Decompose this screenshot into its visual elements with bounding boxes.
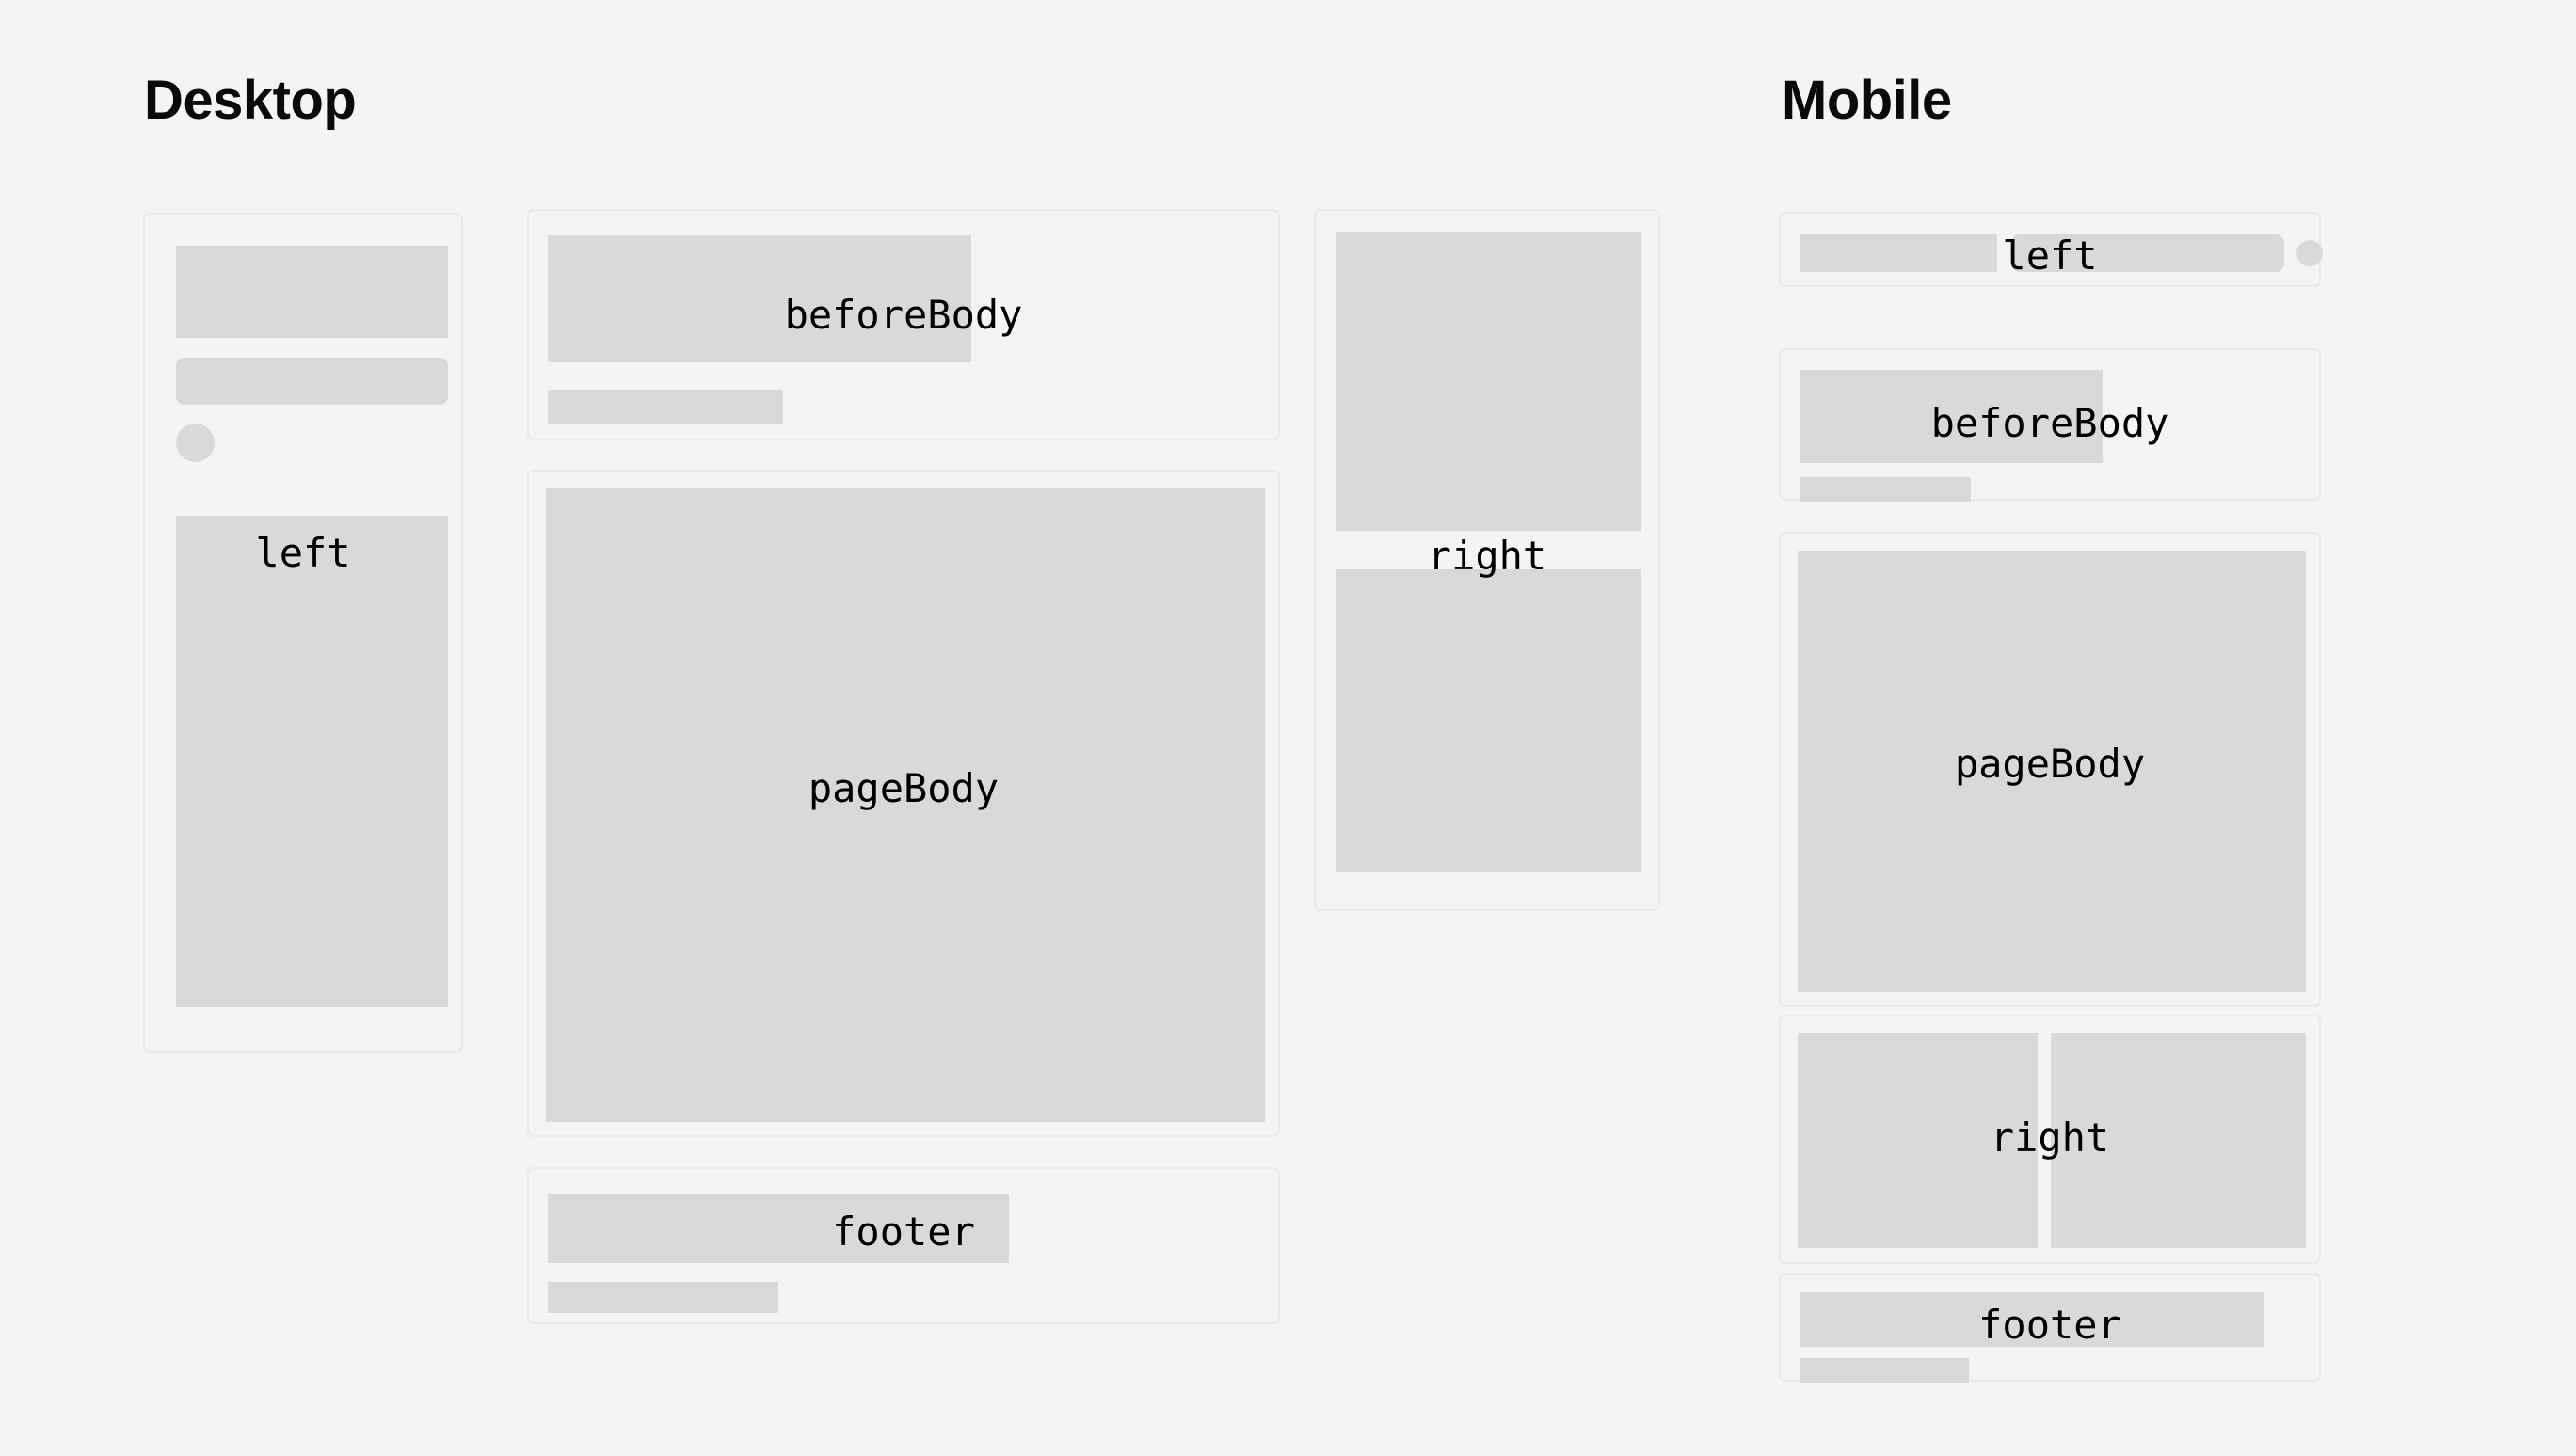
placeholder-block	[1800, 1292, 2264, 1347]
placeholder-block	[1336, 569, 1641, 872]
placeholder-block-small	[1800, 1358, 1969, 1383]
placeholder-block	[2051, 1033, 2306, 1248]
avatar-placeholder-circle	[2296, 240, 2323, 266]
placeholder-block	[1800, 370, 2103, 463]
desktop-right-slot-panel[interactable]	[1314, 209, 1660, 911]
placeholder-block-tall	[176, 516, 448, 1007]
wireframe-preview-stage: Desktop left beforeBody pageBody right f…	[0, 0, 2576, 1456]
desktop-left-slot-panel[interactable]	[143, 213, 463, 1053]
mobile-footer-slot-panel[interactable]	[1779, 1273, 2321, 1382]
placeholder-block-rounded	[176, 358, 448, 405]
placeholder-block	[548, 1194, 1009, 1263]
desktop-section-heading: Desktop	[144, 73, 356, 128]
placeholder-block	[1800, 234, 1997, 272]
desktop-footer-slot-panel[interactable]	[527, 1167, 1280, 1324]
placeholder-block-small	[548, 1282, 778, 1313]
placeholder-block	[548, 235, 971, 362]
mobile-section-heading: Mobile	[1782, 73, 1952, 128]
avatar-placeholder-circle	[176, 424, 215, 462]
mobile-left-slot-panel[interactable]	[1779, 212, 2321, 287]
mobile-right-slot-panel[interactable]	[1779, 1015, 2321, 1264]
placeholder-block-small	[548, 390, 783, 424]
mobile-beforebody-slot-panel[interactable]	[1779, 348, 2321, 501]
placeholder-block-rounded	[2011, 234, 2284, 272]
desktop-beforebody-slot-panel[interactable]	[527, 209, 1280, 440]
placeholder-block-large	[546, 488, 1265, 1122]
placeholder-block-large	[1798, 551, 2306, 992]
mobile-pagebody-slot-panel[interactable]	[1779, 532, 2321, 1007]
desktop-pagebody-slot-panel[interactable]	[527, 470, 1280, 1137]
placeholder-block	[1798, 1033, 2038, 1248]
placeholder-block-small	[1800, 477, 1971, 502]
placeholder-block	[1336, 232, 1641, 531]
placeholder-block	[176, 246, 448, 338]
